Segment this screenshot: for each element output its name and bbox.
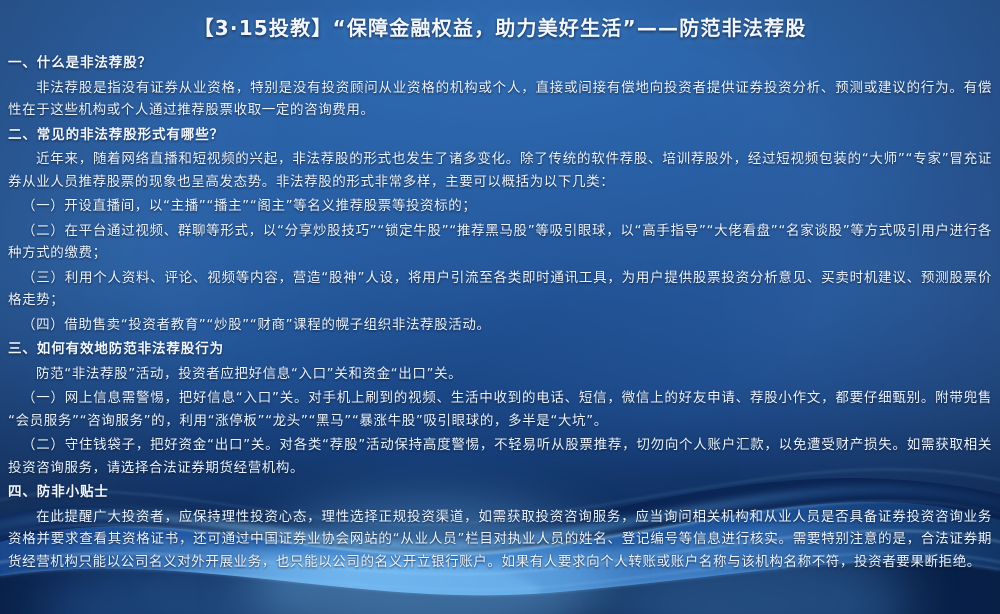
section-paragraph-3-1: 防范“非法荐股”活动，投资者应把好信息“入口”关和资金“出口”关。: [8, 363, 992, 386]
section-paragraph-4-1: 在此提醒广大投资者，应保持理性投资心态，理性选择正规投资渠道，如需获取投资咨询服…: [8, 506, 992, 574]
section-paragraph-1-1: 非法荐股是指没有证券从业资格，特别是没有投资顾问从业资格的机构或个人，直接或间接…: [8, 77, 992, 122]
section-item-2-3: （三）利用个人资料、评论、视频等内容，营造“股神”人设，将用户引流至各类即时通讯…: [8, 267, 992, 312]
section-heading-1: 一、什么是非法荐股？: [8, 52, 992, 75]
section-item-3-1: （一）网上信息需警惕，把好信息“入口”关。对手机上刷到的视频、生活中收到的电话、…: [8, 387, 992, 432]
section-heading-2: 二、常见的非法荐股形式有哪些？: [8, 124, 992, 147]
poster-title-container: 【3·15投教】“保障金融权益，助力美好生活”——防范非法荐股: [0, 14, 1000, 42]
section-heading-4: 四、防非小贴士: [8, 481, 992, 504]
poster-canvas: 【3·15投教】“保障金融权益，助力美好生活”——防范非法荐股 一、什么是非法荐…: [0, 0, 1000, 614]
section-heading-3: 三、如何有效地防范非法荐股行为: [8, 338, 992, 361]
section-item-2-1: （一）开设直播间，以“主播”“播主”“阁主”等名义推荐股票等投资标的；: [8, 195, 992, 218]
section-paragraph-2-1: 近年来，随着网络直播和短视频的兴起，非法荐股的形式也发生了诸多变化。除了传统的软…: [8, 148, 992, 193]
page-title: 【3·15投教】“保障金融权益，助力美好生活”——防范非法荐股: [194, 14, 807, 42]
section-item-2-2: （二）在平台通过视频、群聊等形式，以“分享炒股技巧”“锁定牛股”“推荐黑马股”等…: [8, 220, 992, 265]
poster-body: 一、什么是非法荐股？ 非法荐股是指没有证券从业资格，特别是没有投资顾问从业资格的…: [8, 52, 992, 575]
section-item-3-2: （二）守住钱袋子，把好资金“出口”关。对各类“荐股”活动保持高度警惕，不轻易听从…: [8, 434, 992, 479]
section-item-2-4: （四）借助售卖“投资者教育”“炒股”“财商”课程的幌子组织非法荐股活动。: [8, 314, 992, 337]
